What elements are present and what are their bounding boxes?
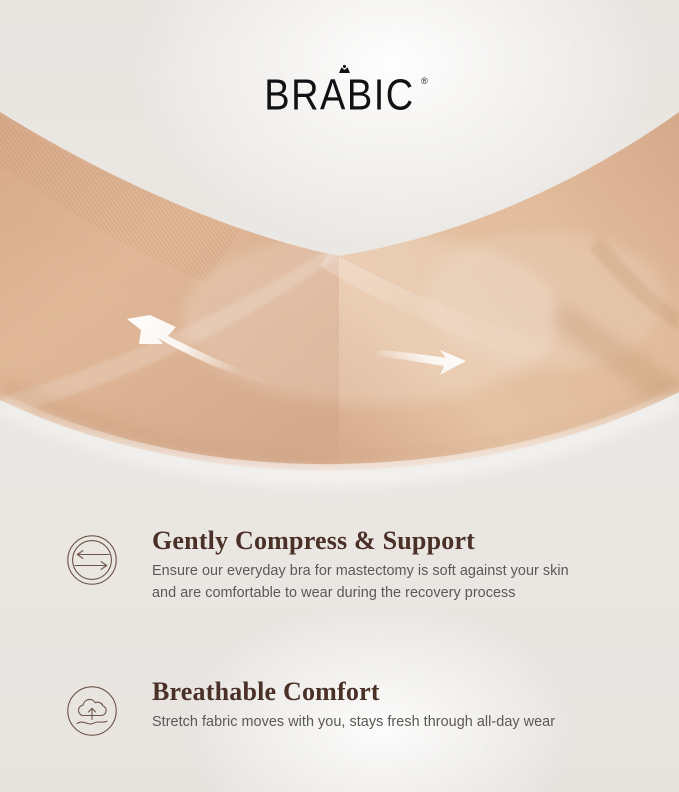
garment-fabric — [0, 90, 679, 490]
breathable-cloud-icon — [66, 685, 118, 737]
registered-trademark: ® — [421, 77, 428, 86]
feature-text: Breathable Comfort Stretch fabric moves … — [152, 659, 555, 733]
feature-description-line: and are comfortable to wear during the r… — [152, 582, 569, 604]
feature-item-breathable: Breathable Comfort Stretch fabric moves … — [0, 659, 679, 735]
feature-title: Breathable Comfort — [152, 677, 555, 706]
feature-description-line: Ensure our everyday bra for mastectomy i… — [152, 560, 569, 582]
compress-arrows-icon — [66, 534, 118, 586]
feature-description: Ensure our everyday bra for mastectomy i… — [152, 560, 569, 605]
feature-item-compress: Gently Compress & Support Ensure our eve… — [0, 508, 679, 605]
feature-description-line: Stretch fabric moves with you, stays fre… — [152, 711, 555, 733]
brand-name: BRABIC — [264, 74, 414, 117]
product-feature-card: BRABIC BRABIC ® — [0, 0, 679, 792]
feature-list: Gently Compress & Support Ensure our eve… — [0, 508, 679, 735]
feature-description: Stretch fabric moves with you, stays fre… — [152, 711, 555, 733]
feature-title: Gently Compress & Support — [152, 526, 569, 555]
brand-logo: BRABIC BRABIC ® — [0, 74, 679, 112]
feature-text: Gently Compress & Support Ensure our eve… — [152, 508, 569, 605]
